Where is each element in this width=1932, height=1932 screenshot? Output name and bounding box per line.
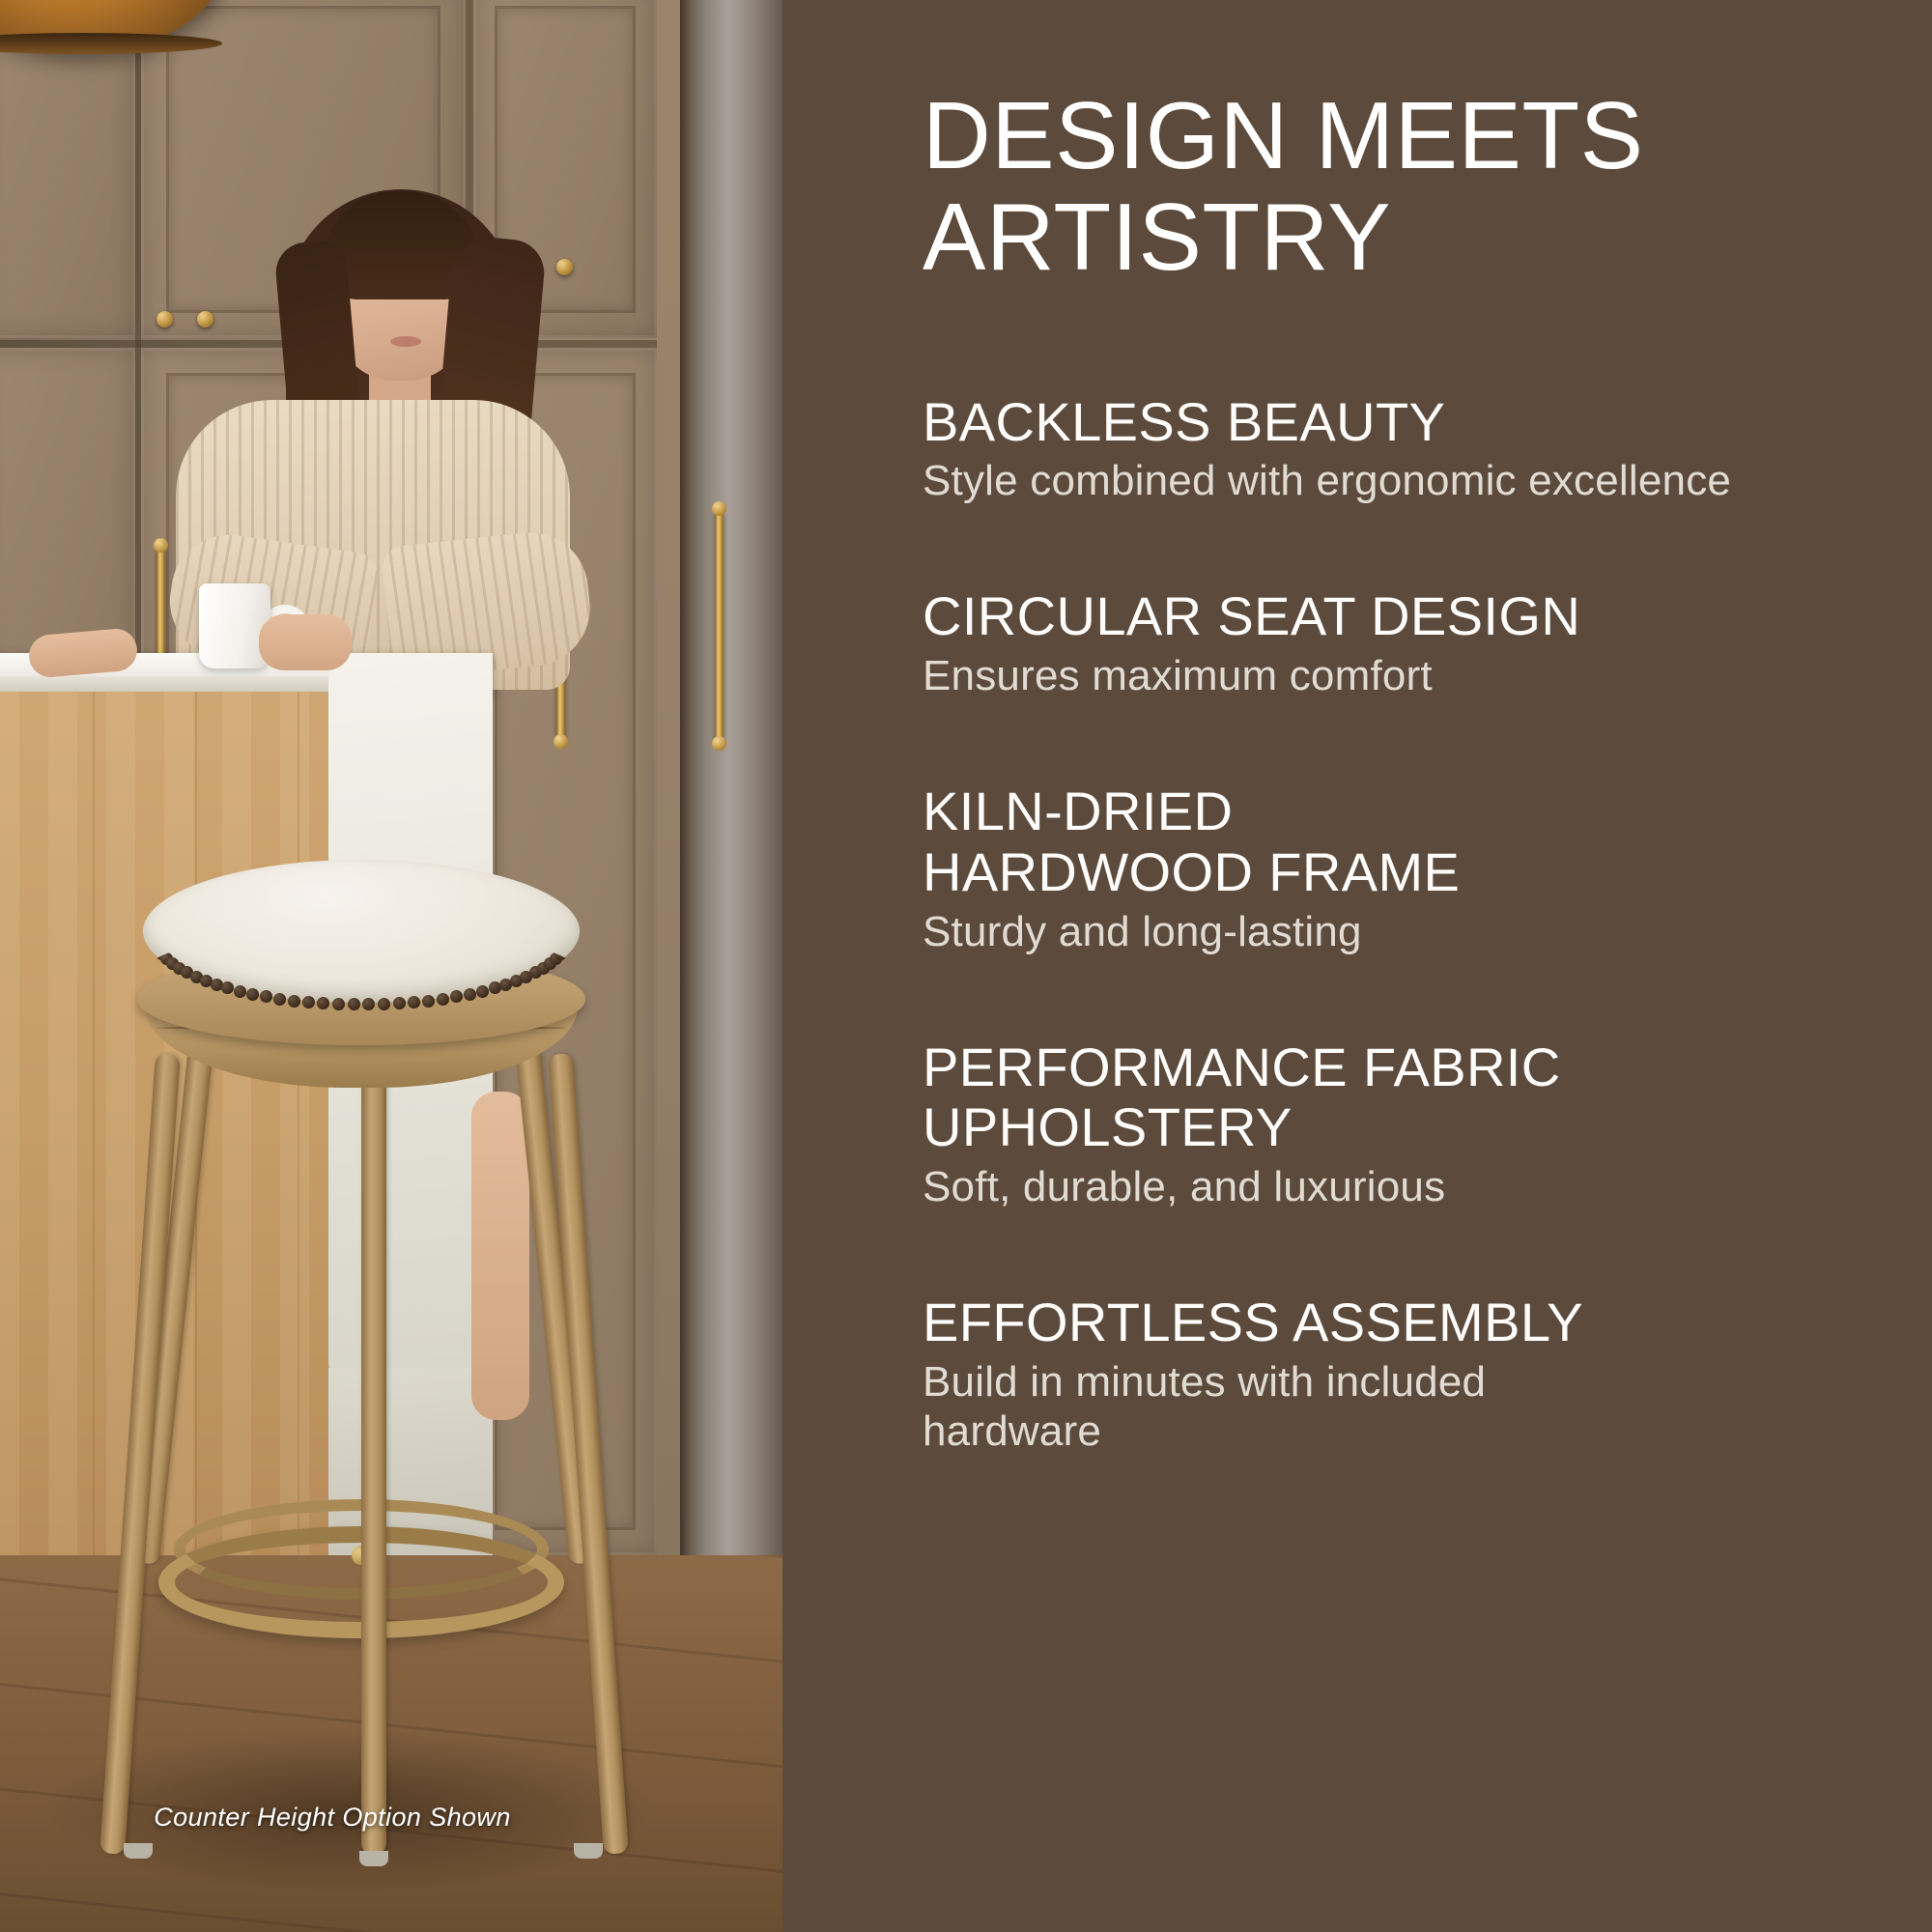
nailhead-stud: [422, 995, 435, 1008]
feature-heading: EFFORTLESS ASSEMBLY: [923, 1293, 1879, 1353]
lifestyle-photo: Counter Height Option Shown: [0, 0, 782, 1932]
feature-subtext: Build in minutes with included hardware: [923, 1357, 1599, 1456]
stainless-refrigerator: [690, 0, 782, 1565]
nailhead-stud: [302, 996, 315, 1009]
page-title-line-1: DESIGN MEETS: [923, 85, 1889, 186]
cabinet-knob: [197, 311, 213, 327]
nailhead-stud: [450, 990, 463, 1003]
cabinet-knob: [556, 259, 573, 275]
stool-foot-cap: [574, 1843, 603, 1859]
nailhead-stud: [393, 997, 406, 1009]
feature-list-panel: DESIGN MEETS ARTISTRY BACKLESS BEAUTY St…: [782, 0, 1932, 1932]
nailhead-stud: [362, 998, 375, 1010]
stool-leg-front-center: [361, 1053, 386, 1855]
refrigerator-pull-handle: [715, 510, 724, 742]
feature-item-effortless-assembly: EFFORTLESS ASSEMBLY Build in minutes wit…: [923, 1293, 1932, 1456]
feature-item-kiln-dried-hardwood-frame: KILN-DRIED HARDWOOD FRAME Sturdy and lon…: [923, 781, 1932, 955]
cabinet-knob: [156, 311, 173, 327]
feature-heading: BACKLESS BEAUTY: [923, 392, 1879, 453]
woman-lips: [390, 336, 421, 347]
feature-subtext: Ensures maximum comfort: [923, 651, 1879, 700]
appliance-seam: [680, 0, 690, 1565]
feature-heading: CIRCULAR SEAT DESIGN: [923, 586, 1879, 647]
nailhead-stud: [317, 997, 329, 1009]
nailhead-stud: [476, 985, 489, 998]
nailhead-stud: [437, 993, 449, 1006]
nailhead-stud: [564, 929, 577, 940]
feature-item-circular-seat-design: CIRCULAR SEAT DESIGN Ensures maximum com…: [923, 586, 1932, 700]
nailhead-stud: [288, 995, 300, 1008]
feature-heading: KILN-DRIED HARDWOOD FRAME: [923, 781, 1541, 902]
feature-item-performance-fabric-upholstery: PERFORMANCE FABRIC UPHOLSTERY Soft, dura…: [923, 1037, 1932, 1211]
nailhead-stud: [260, 990, 272, 1003]
nailhead-stud: [221, 981, 234, 994]
feature-subtext: Style combined with ergonomic excellence: [923, 456, 1879, 505]
nailhead-stud: [273, 993, 286, 1006]
page-title: DESIGN MEETS ARTISTRY: [923, 85, 1889, 288]
white-coffee-mug: [199, 583, 270, 668]
feature-list: BACKLESS BEAUTY Style combined with ergo…: [923, 392, 1932, 1456]
stool-foot-cap: [359, 1851, 388, 1866]
page-title-line-2: ARTISTRY: [923, 186, 1889, 288]
feature-subtext: Soft, durable, and luxurious: [923, 1162, 1879, 1211]
stool-nailhead-trim: [143, 929, 580, 1018]
nailhead-stud: [332, 998, 345, 1010]
product-feature-graphic: Counter Height Option Shown DESIGN MEETS…: [0, 0, 1932, 1932]
nailhead-stud: [234, 985, 246, 998]
woman-hand-right: [259, 614, 352, 670]
feature-heading: PERFORMANCE FABRIC UPHOLSTERY: [923, 1037, 1599, 1158]
feature-item-backless-beauty: BACKLESS BEAUTY Style combined with ergo…: [923, 392, 1932, 506]
photo-caption: Counter Height Option Shown: [0, 1803, 665, 1833]
cabinet-seam: [135, 0, 141, 696]
stool-foot-cap: [124, 1843, 153, 1859]
nailhead-stud: [408, 996, 420, 1009]
woman-leg: [471, 1092, 529, 1420]
nailhead-stud: [464, 988, 476, 1001]
nailhead-stud: [348, 998, 360, 1010]
feature-subtext: Sturdy and long-lasting: [923, 907, 1879, 956]
nailhead-stud: [378, 998, 390, 1010]
nailhead-stud: [246, 988, 259, 1001]
